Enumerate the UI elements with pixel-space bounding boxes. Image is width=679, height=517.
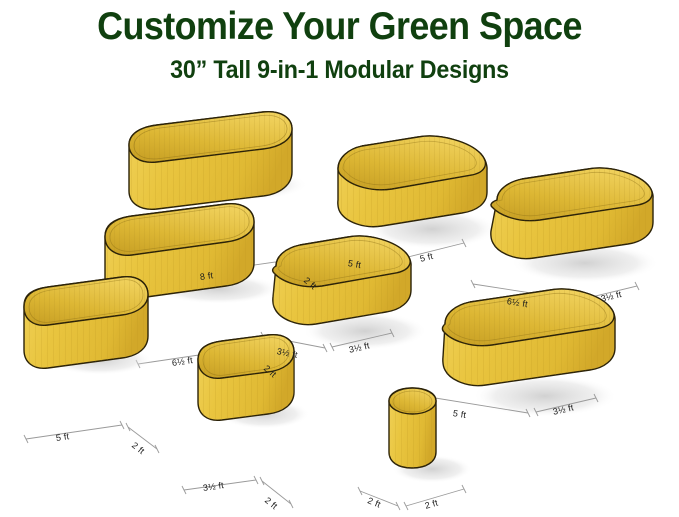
dim-label-bed2-length: 5 ft <box>347 258 362 270</box>
page-title: Customize Your Green Space <box>27 5 652 49</box>
product-infographic: Customize Your Green Space 30” Tall 9-in… <box>0 0 679 517</box>
dim-label-bed6-length: 5 ft <box>55 431 70 443</box>
isometric-beds-illustration <box>0 96 679 517</box>
bed-rect-6-5ft-by-3-5ft <box>491 168 659 283</box>
bed-square-5ft-by-5ft <box>335 136 498 249</box>
page-subtitle: 30” Tall 9-in-1 Modular Designs <box>24 56 655 85</box>
header: Customize Your Green Space 30” Tall 9-in… <box>0 0 679 85</box>
garden-bed-lineup: 8 ft 2 ft 5 ft 5 ft 6½ ft 3½ ft 6½ ft 2 … <box>0 96 679 517</box>
dim-label-bed1-length: 8 ft <box>199 270 214 282</box>
bed-rect-5ft-by-3-5ft <box>442 289 617 417</box>
bed-oval-5ft-by-2ft <box>24 277 152 375</box>
bed-oval-8ft-by-2ft <box>129 96 310 209</box>
bed-square-3-5ft-by-3-5ft <box>273 236 427 350</box>
dim-label-bed7-length: 5 ft <box>452 408 467 420</box>
